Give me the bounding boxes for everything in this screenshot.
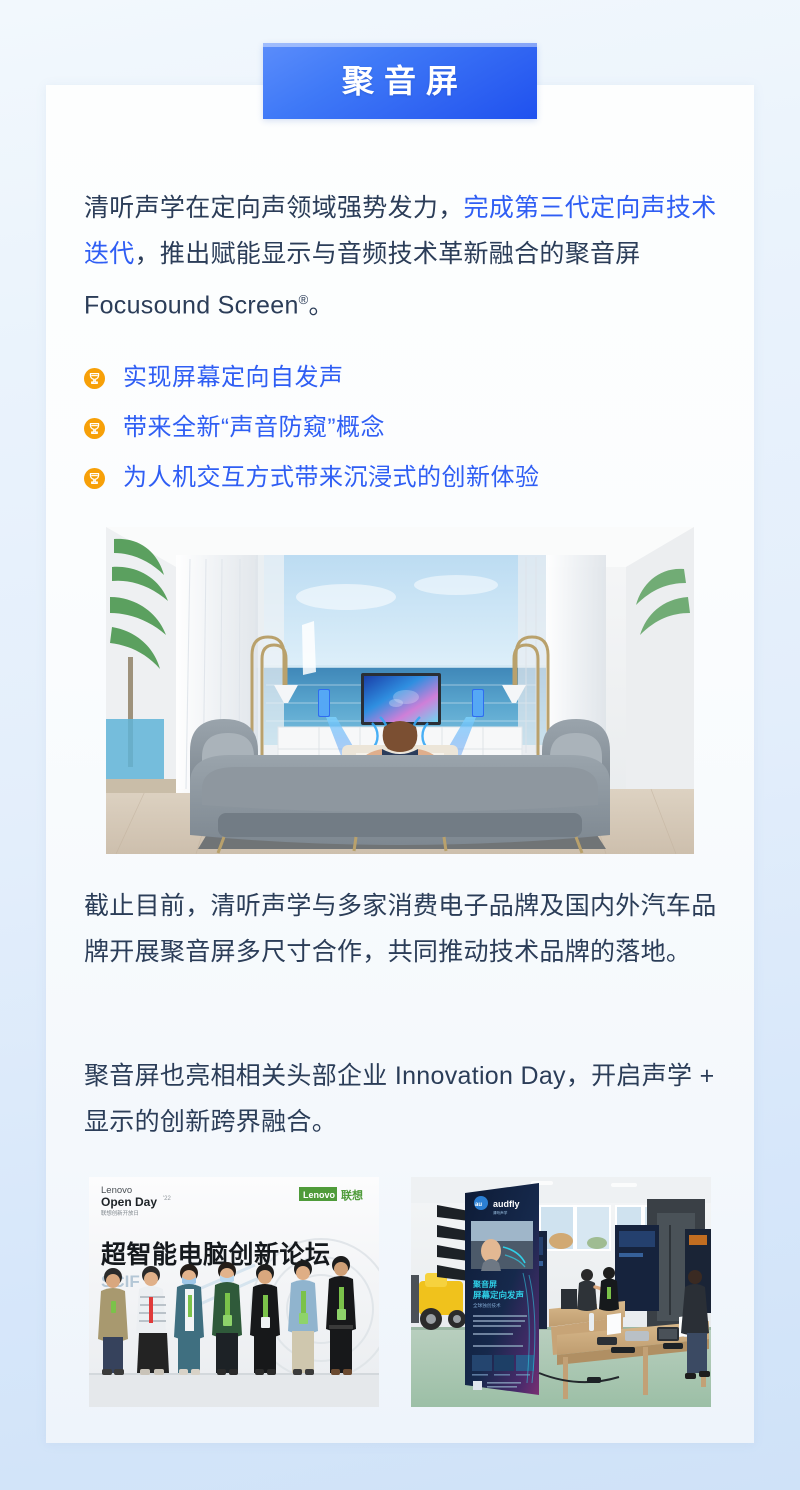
registered-trademark-symbol: ® [299, 292, 309, 307]
svg-text:联想创新开放日: 联想创新开放日 [101, 1209, 139, 1217]
living-room-illustration [106, 527, 694, 854]
audfly-exhibition-booth-photo: au audfly 清听声学 聚音屏 屏幕定向发声 全球独创技术 [411, 1177, 711, 1407]
goblet-icon [84, 468, 105, 489]
svg-text:联想: 联想 [341, 1188, 363, 1202]
goblet-icon [84, 368, 105, 389]
list-item: 带来全新“声音防窥”概念 [84, 405, 724, 451]
intro-text-part3: 。 [309, 291, 334, 319]
list-item: 为人机交互方式带来沉浸式的创新体验 [84, 455, 724, 501]
svg-text:'22: '22 [163, 1196, 171, 1202]
svg-text:au: au [475, 1202, 482, 1208]
goblet-icon [84, 418, 105, 439]
intro-paragraph: 清听声学在定向声领域强势发力，完成第三代定向声技术迭代，推出赋能显示与音频技术革… [84, 185, 724, 328]
svg-text:Open Day: Open Day [101, 1195, 157, 1209]
intro-text-part1: 清听声学在定向声领域强势发力， [84, 194, 464, 222]
svg-text:audfly: audfly [493, 1199, 520, 1209]
page-title: 聚音屏 [332, 65, 468, 97]
living-room-focusound-render [106, 527, 694, 854]
list-item-label: 带来全新“声音防窥”概念 [123, 416, 385, 440]
lenovo-open-day-group-photo: Lenovo Open Day '22 联想创新开放日 Lenovo 联想 超智… [89, 1177, 379, 1407]
page-root: 聚音屏 清听声学在定向声领域强势发力，完成第三代定向声技术迭代，推出赋能显示与音… [0, 0, 800, 1490]
bottom-photo-row: Lenovo Open Day '22 联想创新开放日 Lenovo 联想 超智… [89, 1177, 711, 1407]
list-item-label: 实现屏幕定向自发声 [123, 366, 344, 390]
feature-bullet-list: 实现屏幕定向自发声 带来全新“声音防窥”概念 为人机交互方式带来沉浸式的创新体验 [84, 355, 724, 505]
list-item: 实现屏幕定向自发声 [84, 355, 724, 401]
svg-text:全球独创技术: 全球独创技术 [473, 1302, 501, 1309]
exhibition-hall-illustration: au audfly 清听声学 聚音屏 屏幕定向发声 全球独创技术 [411, 1177, 711, 1407]
list-item-label: 为人机交互方式带来沉浸式的创新体验 [123, 466, 540, 490]
svg-text:清听声学: 清听声学 [493, 1210, 508, 1215]
svg-text:Lenovo: Lenovo [303, 1190, 336, 1200]
svg-text:聚音屏: 聚音屏 [472, 1279, 497, 1289]
intro-text-part2: ，推出赋能显示与音频技术革新融合的聚音屏 Focusound Screen [84, 240, 641, 319]
page-title-banner: 聚音屏 [263, 43, 537, 119]
svg-text:屏幕定向发声: 屏幕定向发声 [472, 1290, 525, 1301]
lenovo-backdrop-illustration: Lenovo Open Day '22 联想创新开放日 Lenovo 联想 超智… [89, 1177, 379, 1407]
innovation-day-paragraph: 聚音屏也亮相相关头部企业 Innovation Day，开启声学 + 显示的创新… [84, 1053, 724, 1145]
cooperation-paragraph: 截止目前，清听声学与多家消费电子品牌及国内外汽车品牌开展聚音屏多尺寸合作，共同推… [84, 883, 724, 975]
